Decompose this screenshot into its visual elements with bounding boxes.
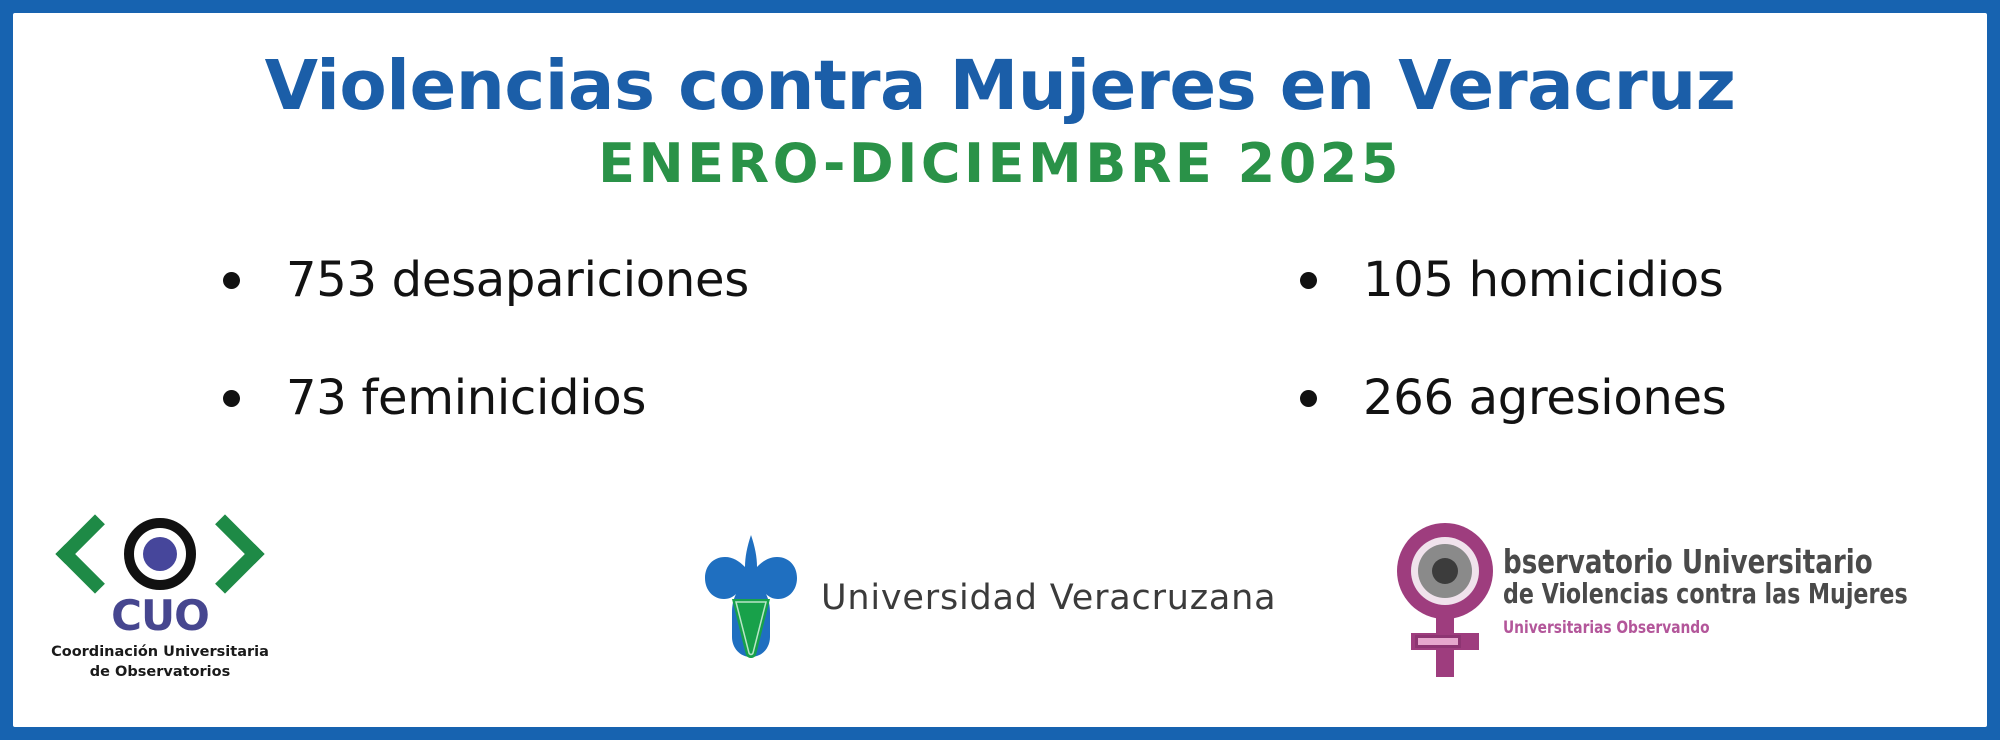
list-item: 266 agresiones	[1300, 339, 1987, 457]
page-title: Violencias contra Mujeres en Veracruz	[13, 51, 1987, 121]
bullet-icon	[223, 272, 240, 289]
ouv-tagline: Universitarias Observando	[1503, 618, 1917, 638]
stat-homicidios: 105 homicidios	[1363, 252, 1723, 308]
page-subtitle: ENERO-DICIEMBRE 2025	[13, 133, 1987, 195]
chevron-right-icon	[185, 514, 264, 593]
stat-feminicidios: 73 feminicidios	[286, 370, 646, 426]
statistics-section: 753 desapariciones 73 feminicidios 105 h…	[13, 221, 1987, 457]
title-block: Violencias contra Mujeres en Veracruz EN…	[13, 51, 1987, 195]
logo-observatorio: bservatorio Universitario de Violencias …	[1391, 519, 1963, 679]
cuo-name-line1: Coordinación Universitaria	[35, 643, 285, 663]
eye-pupil-icon	[143, 537, 177, 571]
logo-cuo: CUO Coordinación Universitaria de Observ…	[35, 511, 285, 682]
logo-row: CUO Coordinación Universitaria de Observ…	[13, 511, 1987, 721]
uv-name: Universidad Veracruzana	[821, 578, 1276, 618]
cuo-name-line2: de Observatorios	[35, 663, 285, 683]
poster-canvas: Violencias contra Mujeres en Veracruz EN…	[13, 13, 1987, 727]
cuo-eye-icon	[55, 511, 265, 597]
stat-agresiones: 266 agresiones	[1363, 370, 1726, 426]
list-item: 73 feminicidios	[223, 339, 1000, 457]
cuo-acronym: CUO	[35, 595, 285, 637]
stat-desapariciones: 753 desapariciones	[286, 252, 749, 308]
list-item: 105 homicidios	[1300, 221, 1987, 339]
poster-frame: Violencias contra Mujeres en Veracruz EN…	[0, 0, 2000, 740]
bullet-icon	[1300, 272, 1317, 289]
bullet-icon	[1300, 390, 1317, 407]
list-item: 753 desapariciones	[223, 221, 1000, 339]
ouv-name-line2: de Violencias contra las Mujeres	[1503, 579, 1908, 608]
statistics-column-right: 105 homicidios 266 agresiones	[1000, 221, 1987, 457]
eye-ring-icon	[124, 518, 196, 590]
venus-eye-icon	[1391, 519, 1499, 679]
cuo-name: Coordinación Universitaria de Observator…	[35, 643, 285, 682]
statistics-column-left: 753 desapariciones 73 feminicidios	[13, 221, 1000, 457]
fleur-de-lis-icon	[703, 533, 799, 663]
logo-universidad-veracruzana: Universidad Veracruzana	[703, 533, 1276, 663]
chevron-left-icon	[55, 514, 134, 593]
ouv-name-line1: bservatorio Universitario	[1503, 545, 1908, 579]
bullet-icon	[223, 390, 240, 407]
ouv-name: bservatorio Universitario de Violencias …	[1503, 519, 1963, 638]
